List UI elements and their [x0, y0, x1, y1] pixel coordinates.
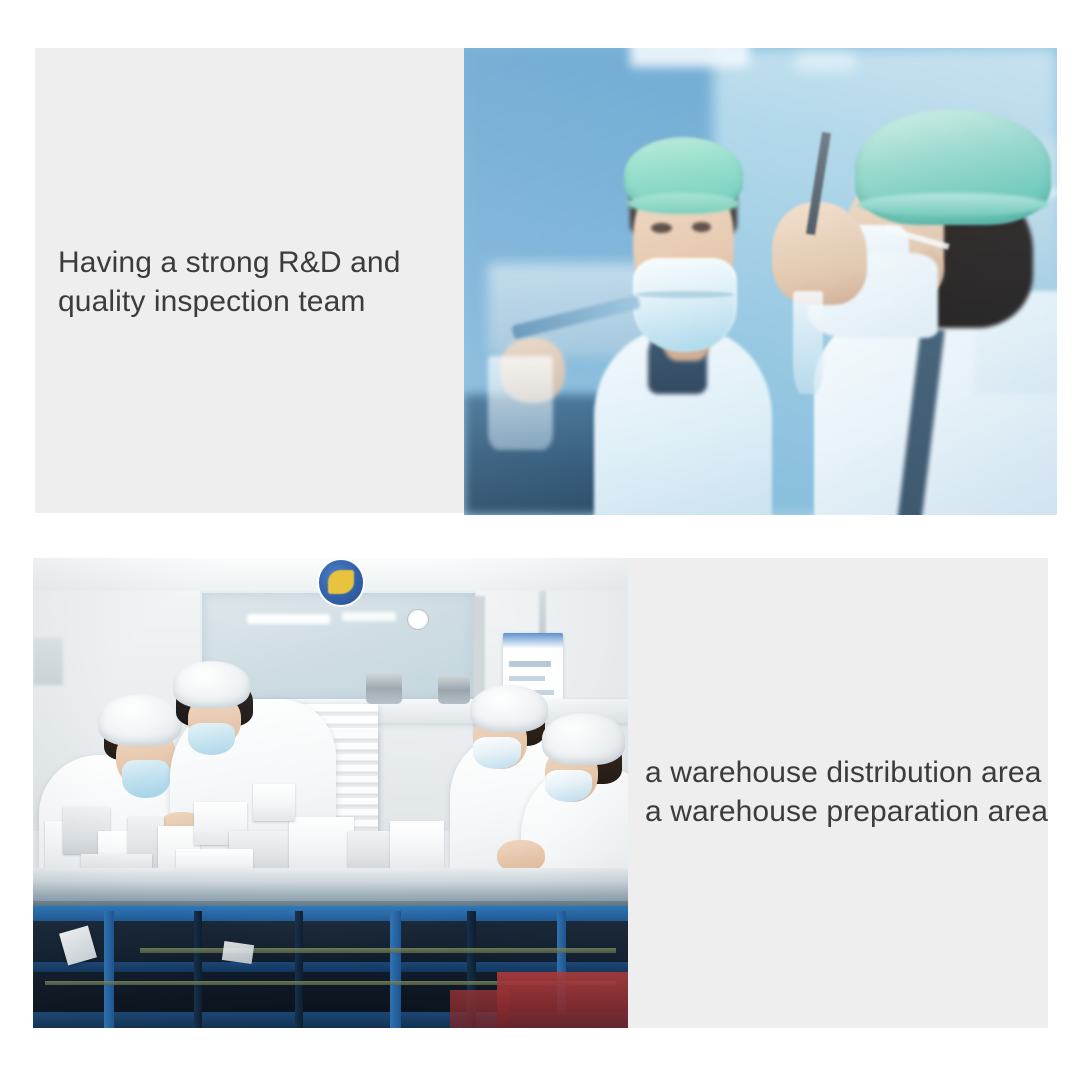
warehouse-packing-photo: [33, 558, 628, 1028]
page-root: Having a strong R&D and quality inspecti…: [0, 0, 1080, 1080]
warehouse-caption-line-2: a warehouse preparation area: [645, 792, 1048, 831]
rnd-caption-line-1: Having a strong R&D and: [58, 243, 400, 282]
rnd-caption-line-2: quality inspection team: [58, 282, 400, 321]
photo-vignette: [33, 558, 628, 1028]
warehouse-caption-line-1: a warehouse distribution area: [645, 753, 1048, 792]
lab-quality-inspection-photo: [464, 48, 1057, 515]
warehouse-caption-text: a warehouse distribution area a warehous…: [645, 753, 1048, 831]
lab-glass-reflection: [464, 48, 1057, 515]
rnd-caption-text: Having a strong R&D and quality inspecti…: [58, 243, 400, 321]
